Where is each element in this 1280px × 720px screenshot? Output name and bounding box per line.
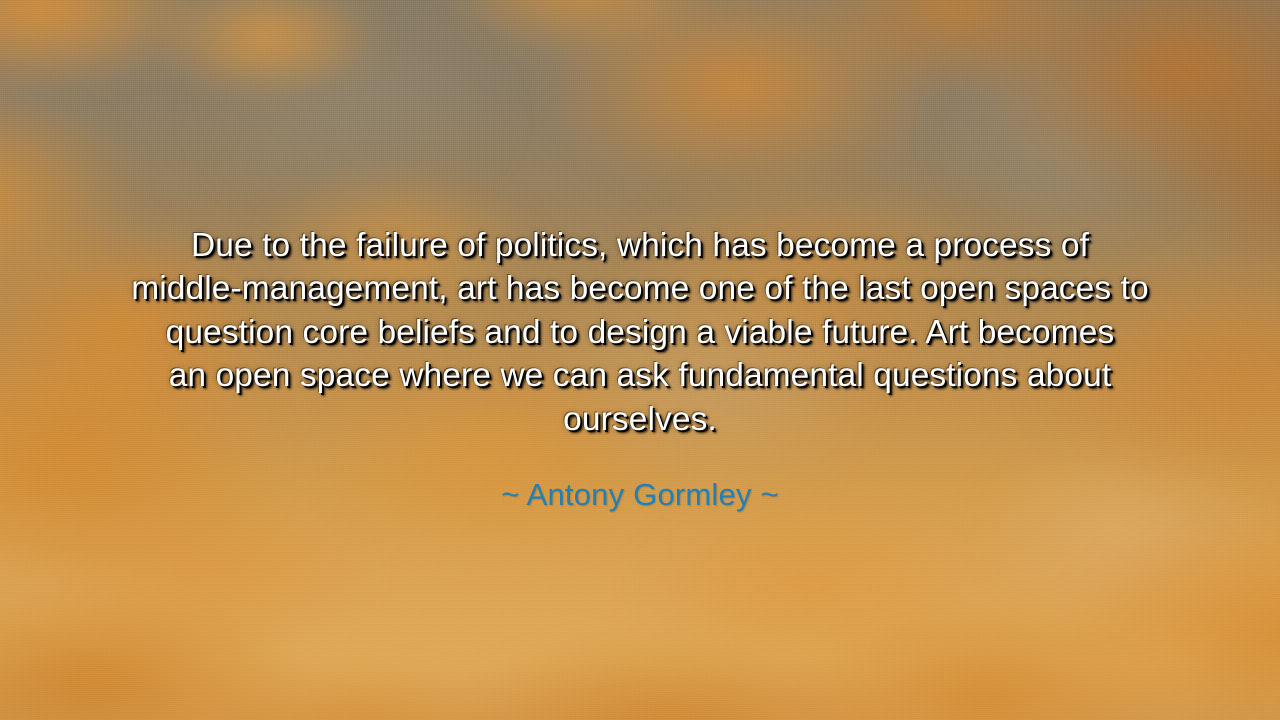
quote-attribution: ~ Antony Gormley ~ [501,476,779,514]
quote-text: Due to the failure of politics, which ha… [70,224,1210,442]
quote-line: ourselves. [70,398,1210,442]
quote-line: Due to the failure of politics, which ha… [70,224,1210,268]
quote-card: Due to the failure of politics, which ha… [0,0,1280,720]
quote-content: Due to the failure of politics, which ha… [0,0,1280,720]
quote-line: an open space where we can ask fundament… [70,354,1210,398]
quote-line: question core beliefs and to design a vi… [70,311,1210,355]
quote-line: middle-management, art has become one of… [70,267,1210,311]
